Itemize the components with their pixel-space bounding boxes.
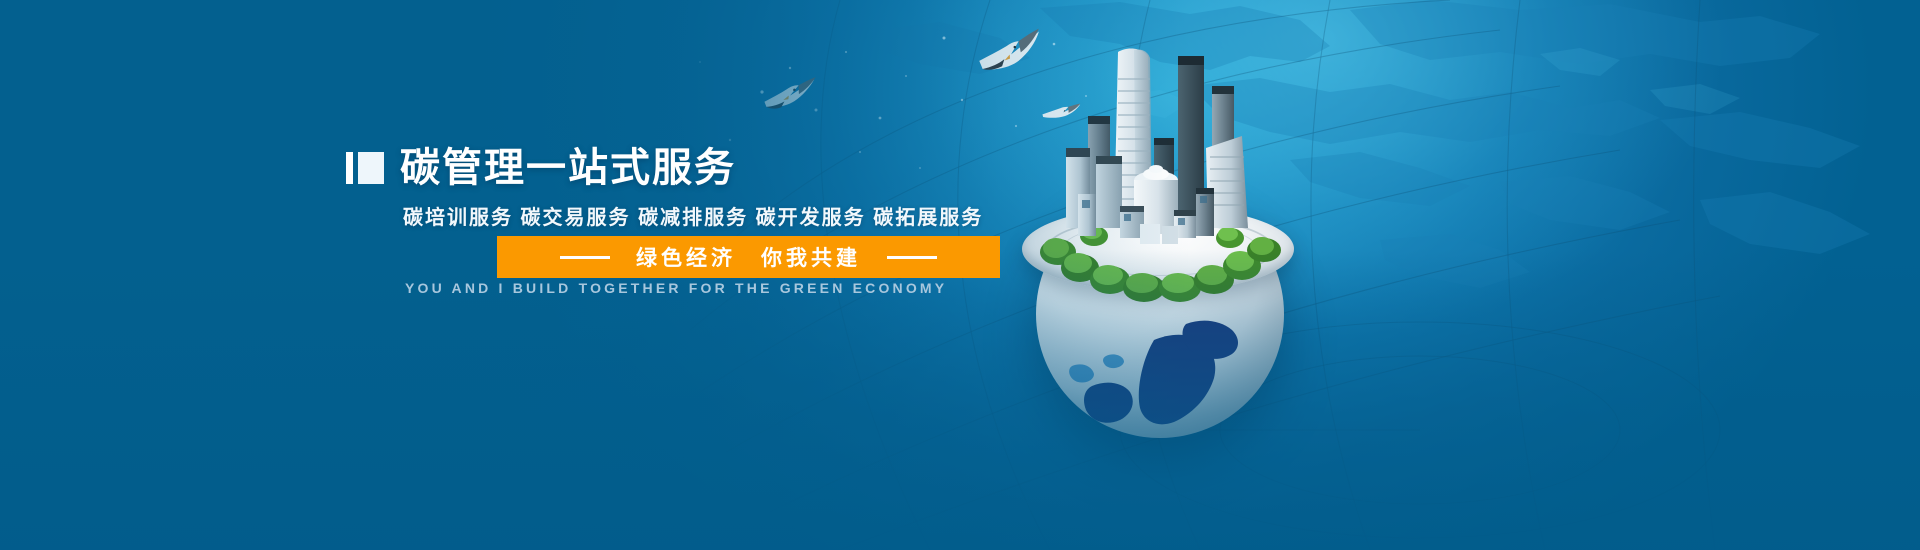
title-row: 碳管理一站式服务 [346, 148, 1026, 188]
rule-left-icon [560, 256, 610, 259]
background-bottom-fade [0, 250, 1920, 550]
english-tagline: YOU AND I BUILD TOGETHER FOR THE GREEN E… [405, 280, 947, 296]
square-marker-icon [346, 152, 384, 184]
marker-thick-bar [358, 152, 384, 184]
slogan-banner: 绿色经济 你我共建 [497, 236, 1000, 278]
banner-content: 碳管理一站式服务 碳培训服务 碳交易服务 碳减排服务 碳开发服务 碳拓展服务 绿… [346, 148, 1026, 230]
carbon-management-banner: 碳管理一站式服务 碳培训服务 碳交易服务 碳减排服务 碳开发服务 碳拓展服务 绿… [0, 0, 1920, 550]
service-list: 碳培训服务 碳交易服务 碳减排服务 碳开发服务 碳拓展服务 [403, 201, 1026, 230]
page-title: 碳管理一站式服务 [400, 148, 736, 188]
marker-thin-bar [346, 152, 353, 184]
rule-right-icon [887, 256, 937, 259]
slogan-text: 绿色经济 你我共建 [636, 242, 861, 272]
